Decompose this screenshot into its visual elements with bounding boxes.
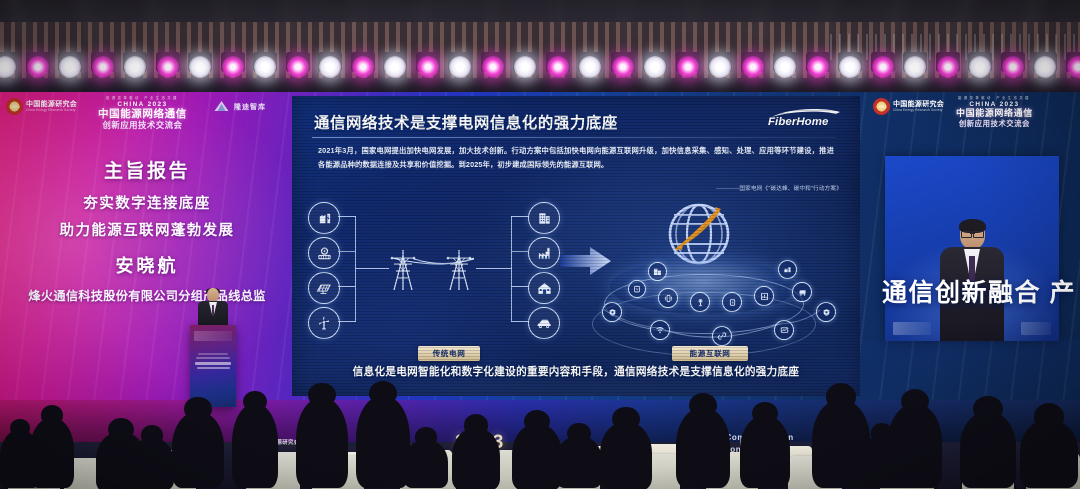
connector-bus bbox=[511, 216, 512, 322]
slide-footer-text: 信息化是电网智能化和数字化建设的重要内容和手段，通信网络技术是支撑信息化的强力底… bbox=[292, 364, 860, 379]
connector-line bbox=[338, 251, 356, 252]
audience-member bbox=[232, 404, 278, 488]
audience-member bbox=[172, 412, 224, 488]
audience-member bbox=[296, 398, 348, 488]
podium bbox=[190, 325, 236, 407]
wind-turbine-icon bbox=[308, 307, 340, 339]
conference-title-line2: 创新应用技术交流会 bbox=[98, 121, 187, 130]
partner-emblem-icon bbox=[213, 100, 230, 113]
right-panel-lower-wall bbox=[860, 341, 1080, 407]
arrow-right-icon bbox=[560, 244, 612, 278]
partner-logo: 隆迪智库 bbox=[213, 100, 266, 113]
ceiling-light-rig bbox=[0, 0, 1080, 96]
audience-head bbox=[973, 396, 1002, 422]
power-plant-icon bbox=[308, 202, 340, 234]
report-heading: 主旨报告 bbox=[14, 156, 280, 183]
node-link-lines bbox=[592, 292, 832, 352]
society-name-cn-right: 中国能源研究会 bbox=[893, 101, 944, 108]
audience-head bbox=[567, 423, 591, 445]
audience-head bbox=[308, 383, 335, 407]
audience-head bbox=[1034, 403, 1064, 430]
conference-title-line1-right: 中国能源网络通信 bbox=[956, 109, 1033, 118]
presenter-head bbox=[207, 288, 219, 302]
diagram-label-energy-internet: 能源互联网 bbox=[672, 346, 748, 361]
conference-logo: 能源变革驱动 产业生态共建 CHINA 2023 中国能源网络通信 创新应用技术… bbox=[98, 97, 187, 130]
light-beam bbox=[280, 0, 364, 90]
connector-line bbox=[511, 251, 529, 252]
wall-headline-text: 通信创新融合 产 bbox=[882, 273, 1076, 309]
audience-head bbox=[689, 393, 717, 418]
conference-photo: CERS 中国能源研究会 China Energy Research Socie… bbox=[0, 0, 1080, 489]
generator-icon bbox=[308, 237, 340, 269]
electric-car-icon bbox=[528, 307, 560, 339]
audience-member bbox=[676, 408, 730, 488]
slide-title-rule bbox=[312, 137, 836, 138]
substation-icon bbox=[778, 260, 797, 279]
connector-line bbox=[338, 286, 356, 287]
building-icon bbox=[648, 262, 667, 281]
society-emblem-icon-right: CERS bbox=[873, 98, 890, 115]
audience-member bbox=[740, 416, 790, 488]
connector-line bbox=[338, 216, 356, 217]
video-watermark-left bbox=[893, 322, 931, 335]
video-watermark-right bbox=[1021, 322, 1051, 335]
fiberhome-logo: FiberHome bbox=[768, 108, 844, 130]
slide-diagram: 传统电网 能源互联网 bbox=[292, 196, 860, 364]
audience-head bbox=[826, 383, 856, 410]
audience-head bbox=[612, 407, 639, 431]
right-panel-header: CERS 中国能源研究会 China Energy Research Socie… bbox=[860, 92, 1080, 132]
report-subtitle-1: 夯实数字连接底座 bbox=[14, 192, 280, 213]
society-mark-text: CERS bbox=[9, 104, 19, 109]
connector-line bbox=[476, 268, 512, 269]
conference-title-line2-right: 创新应用技术交流会 bbox=[956, 120, 1033, 128]
audience-head bbox=[141, 425, 164, 446]
society-logo: CERS 中国能源研究会 China Energy Research Socie… bbox=[6, 98, 77, 115]
audience-head bbox=[524, 410, 550, 433]
society-emblem-icon: CERS bbox=[6, 98, 23, 115]
speaker-title-card: 主旨报告 夯实数字连接底座 助力能源互联网蓬勃发展 安晓航 烽火通信科技股份有限… bbox=[0, 130, 292, 320]
light-beam bbox=[350, 0, 430, 89]
audience-head bbox=[108, 418, 134, 441]
office-building-icon bbox=[528, 202, 560, 234]
audience-member bbox=[512, 424, 562, 489]
slide-title: 通信网络技术是支撑电网信息化的强力底座 bbox=[314, 111, 618, 133]
presenter-tie bbox=[212, 305, 215, 316]
presentation-slide: 通信网络技术是支撑电网信息化的强力底座 FiberHome 2021年3月，国家… bbox=[292, 96, 860, 396]
audience-member bbox=[356, 396, 410, 488]
podium-text-block bbox=[195, 353, 231, 372]
slide-source-citation: ————国家电网《“碳达峰、碳中和”行动方案》 bbox=[716, 184, 842, 192]
audience-head bbox=[752, 402, 778, 425]
connector-line bbox=[338, 321, 356, 322]
solar-panel-icon bbox=[308, 272, 340, 304]
audience-member bbox=[960, 412, 1016, 488]
speaker-name: 安晓航 bbox=[14, 252, 280, 278]
audience-head bbox=[901, 389, 929, 414]
connector-line bbox=[511, 286, 529, 287]
speaker-video-feed bbox=[885, 156, 1059, 341]
society-name-en: China Energy Research Society bbox=[26, 109, 77, 112]
audience-head bbox=[464, 414, 489, 436]
speaker-role: 烽火通信科技股份有限公司分组产品线总监 bbox=[14, 286, 280, 304]
connector-line bbox=[511, 321, 529, 322]
conference-title-line1: 中国能源网络通信 bbox=[98, 109, 187, 120]
society-mark-text-right: CERS bbox=[876, 104, 886, 109]
factory-icon bbox=[528, 237, 560, 269]
audience-member bbox=[452, 428, 500, 489]
conference-logo-right: 能源变革驱动 产业生态共建 CHINA 2023 中国能源网络通信 创新应用技术… bbox=[956, 97, 1033, 127]
audience-head bbox=[41, 405, 64, 426]
audience-member bbox=[600, 422, 652, 489]
audience-head bbox=[184, 397, 211, 421]
live-feed-panel: CERS 中国能源研究会 China Energy Research Socie… bbox=[860, 92, 1080, 407]
audience-head bbox=[369, 381, 397, 406]
house-icon bbox=[528, 272, 560, 304]
audience-head bbox=[243, 391, 267, 413]
slide-body-text: 2021年3月，国家电网提出加快电网发展，加大技术创新。行动方案中包括加快电网向… bbox=[318, 144, 834, 172]
report-subtitle-2: 助力能源互联网蓬勃发展 bbox=[14, 219, 280, 240]
society-name-en-right: China Energy Research Society bbox=[893, 109, 944, 112]
diagram-label-traditional-grid: 传统电网 bbox=[418, 346, 480, 361]
audience-head bbox=[415, 427, 438, 448]
podium-logo-strip bbox=[194, 331, 232, 341]
society-logo-right: CERS 中国能源研究会 China Energy Research Socie… bbox=[873, 98, 944, 115]
partner-name: 隆迪智库 bbox=[234, 102, 266, 112]
audience-head bbox=[871, 423, 894, 444]
audience-member bbox=[0, 430, 40, 488]
connector-line bbox=[355, 268, 389, 269]
connector-line bbox=[511, 216, 529, 217]
fiberhome-wordmark: FiberHome bbox=[768, 116, 828, 128]
society-name-cn: 中国能源研究会 bbox=[26, 101, 77, 108]
